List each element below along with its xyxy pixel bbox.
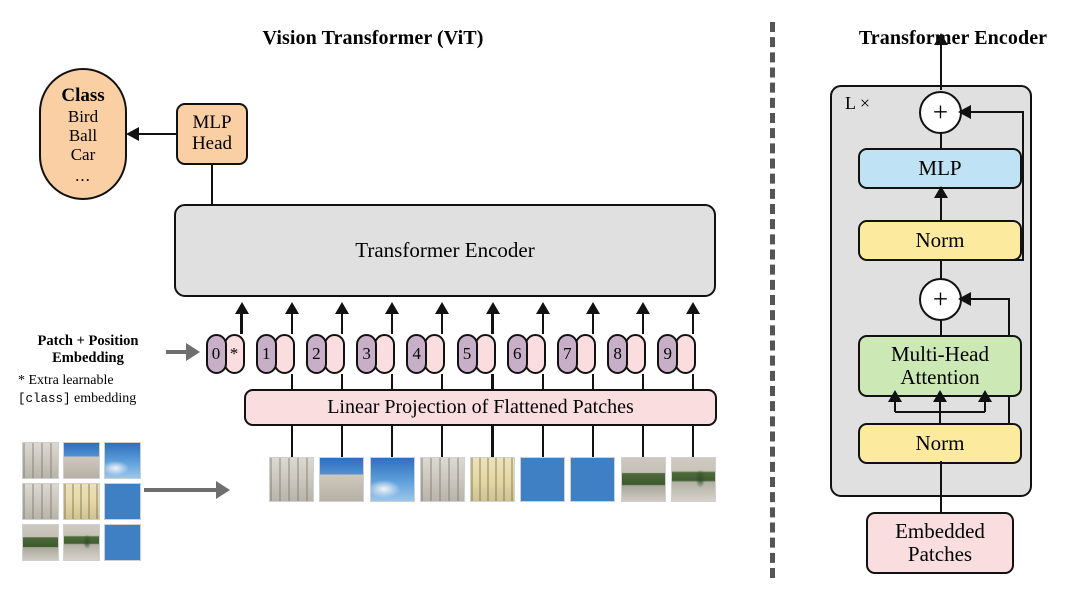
patch-embedding-2 <box>324 334 345 374</box>
class-token-star: * <box>224 334 245 374</box>
encoder-input-arrow-shaft <box>391 312 393 334</box>
mlp-block: MLP <box>858 148 1022 189</box>
position-embedding-5: 5 <box>457 334 478 374</box>
residual-top-horizontal <box>962 111 1024 113</box>
encoder-input-arrow-head <box>235 302 249 314</box>
flattened-patch-tile <box>570 457 615 502</box>
encoder-input-arrow-shaft <box>341 312 343 334</box>
qkv-center-stem <box>939 411 941 423</box>
patch-to-projection-line <box>542 425 544 457</box>
note-class-token: [class] <box>18 392 71 406</box>
embedding-caption-arrow-shaft <box>166 350 188 354</box>
patch-embedding-6 <box>525 334 546 374</box>
projection-to-token-line <box>642 374 644 390</box>
residual-bottom-arrow-head <box>958 292 971 306</box>
transformer-encoder-label: Transformer Encoder <box>355 239 534 262</box>
vit-architecture-figure: Vision Transformer (ViT) Class Bird Ball… <box>0 0 1080 593</box>
embedded-to-norm-line <box>940 461 942 514</box>
class-item-ellipsis: ... <box>75 166 91 185</box>
flattened-patch-tile <box>520 457 565 502</box>
encoder-output-arrow-head <box>934 33 948 45</box>
flattened-patch-tile <box>319 457 364 502</box>
normtop-to-mlp-arrow-head <box>934 186 948 198</box>
mlp-block-label: MLP <box>918 157 961 180</box>
embedded-patches-line1: Embedded <box>895 519 985 543</box>
qkv-arrow-head <box>933 390 947 402</box>
patch-embedding-5 <box>475 334 496 374</box>
flattened-patch-tile <box>470 457 515 502</box>
patch-embedding-8 <box>625 334 646 374</box>
encoder-input-arrow-shaft <box>592 312 594 334</box>
mlp-head-line2: Head <box>192 133 232 154</box>
embedding-caption-line1: Patch + Position <box>38 333 139 349</box>
position-embedding-8: 8 <box>607 334 628 374</box>
residual-add-bottom-symbol: + <box>933 286 948 313</box>
projection-to-token-line <box>592 374 594 390</box>
embedding-token: 1 <box>256 334 295 374</box>
patch-embedding-7 <box>575 334 596 374</box>
mlp-head-line1: MLP <box>192 112 231 133</box>
embedded-patches-block: Embedded Patches <box>866 512 1014 574</box>
note-line1: * Extra learnable <box>18 373 114 388</box>
panel-divider <box>770 22 775 578</box>
source-image-tile <box>22 442 59 479</box>
position-embedding-6: 6 <box>507 334 528 374</box>
norm-top-label: Norm <box>916 229 965 252</box>
class-item-bird: Bird <box>68 107 98 126</box>
flattened-patch-tile <box>420 457 465 502</box>
flattened-patch-tile <box>269 457 314 502</box>
qkv-arrow-head <box>978 390 992 402</box>
position-embedding-3: 3 <box>356 334 377 374</box>
position-embedding-2: 2 <box>306 334 327 374</box>
encoder-input-arrow-shaft <box>240 312 242 334</box>
residual-top-arrow-head <box>958 105 971 119</box>
patch-to-projection-line <box>391 425 393 457</box>
source-image-tile <box>22 483 59 520</box>
embedding-token: 2 <box>306 334 345 374</box>
patch-to-projection-line <box>642 425 644 457</box>
extra-learnable-note: * Extra learnable [class] embedding <box>18 372 188 409</box>
encoder-input-arrow-shaft <box>291 312 293 334</box>
embedding-token: 5 <box>457 334 496 374</box>
residual-add-top-symbol: + <box>933 99 948 126</box>
transformer-encoder-block: Transformer Encoder <box>174 204 716 297</box>
embedding-token: 6 <box>507 334 546 374</box>
embedding-token: 0* <box>206 334 245 374</box>
norm-bottom-block: Norm <box>858 423 1022 464</box>
mha-label-line1: Multi-Head <box>891 342 989 366</box>
residual-add-bottom: + <box>919 278 962 321</box>
source-image-tile <box>63 442 100 479</box>
flattened-patch-tile <box>370 457 415 502</box>
encoder-input-arrow-head <box>435 302 449 314</box>
class-item-car: Car <box>71 145 96 164</box>
encoder-repeat-label: L × <box>845 93 870 114</box>
flattened-patch-tile <box>671 457 716 502</box>
projection-to-token-line <box>441 374 443 390</box>
mlp-to-class-arrow-shaft <box>138 133 176 135</box>
embedding-caption-line2: Embedding <box>52 350 124 366</box>
patch-embedding-4 <box>424 334 445 374</box>
mlp-head-to-encoder-line <box>211 165 213 205</box>
norm-top-block: Norm <box>858 220 1022 261</box>
projection-to-token-line <box>542 374 544 390</box>
encoder-output-line <box>940 42 942 90</box>
source-image-tile <box>22 524 59 561</box>
patch-embedding-1 <box>274 334 295 374</box>
position-embedding-1: 1 <box>256 334 277 374</box>
embedding-token: 8 <box>607 334 646 374</box>
grid-to-strip-arrow-shaft <box>144 488 218 492</box>
mha-label-line2: Attention <box>900 365 979 389</box>
encoder-input-arrow-head <box>335 302 349 314</box>
encoder-input-arrow-head <box>536 302 550 314</box>
patch-to-projection-line <box>491 425 493 457</box>
norm-bottom-label: Norm <box>916 432 965 455</box>
projection-to-token-line <box>291 374 293 390</box>
embedded-patches-line2: Patches <box>908 542 972 566</box>
encoder-input-arrow-head <box>586 302 600 314</box>
patch-to-projection-line <box>441 425 443 457</box>
encoder-input-arrow-head <box>686 302 700 314</box>
source-image-tile <box>63 524 100 561</box>
patch-embedding-9 <box>675 334 696 374</box>
patch-embedding-3 <box>374 334 395 374</box>
source-image-patch-grid <box>22 442 145 565</box>
encoder-input-arrow-head <box>636 302 650 314</box>
patch-to-projection-line <box>341 425 343 457</box>
projection-to-token-line <box>692 374 694 390</box>
class-item-ball: Ball <box>69 126 97 145</box>
embedding-caption-arrow-head <box>186 343 200 361</box>
left-panel-title: Vision Transformer (ViT) <box>198 27 548 50</box>
mlp-head-block: MLP Head <box>176 103 248 165</box>
projection-to-token-line <box>341 374 343 390</box>
multi-head-attention-block: Multi-Head Attention <box>858 335 1022 397</box>
patch-to-projection-line <box>692 425 694 457</box>
patch-to-projection-line <box>291 425 293 457</box>
embedding-token: 4 <box>406 334 445 374</box>
encoder-input-arrow-shaft <box>441 312 443 334</box>
flattened-patch-tile <box>621 457 666 502</box>
source-image-tile <box>104 524 141 561</box>
embedding-token: 7 <box>557 334 596 374</box>
note-line2-tail: embedding <box>71 391 137 406</box>
right-panel-title: Transformer Encoder <box>826 27 1080 50</box>
patch-position-embedding-caption: Patch + Position Embedding <box>12 333 164 367</box>
linear-projection-label: Linear Projection of Flattened Patches <box>327 397 634 419</box>
embedding-token: 3 <box>356 334 395 374</box>
embedding-token: 9 <box>657 334 696 374</box>
encoder-input-arrow-head <box>385 302 399 314</box>
position-embedding-4: 4 <box>406 334 427 374</box>
position-embedding-0: 0 <box>206 334 227 374</box>
linear-projection-block: Linear Projection of Flattened Patches <box>244 389 717 426</box>
projection-to-token-line <box>391 374 393 390</box>
position-embedding-9: 9 <box>657 334 678 374</box>
position-embedding-7: 7 <box>557 334 578 374</box>
class-output-pill: Class Bird Ball Car ... <box>39 68 127 200</box>
encoder-input-arrow-shaft <box>491 312 493 334</box>
grid-to-strip-arrow-head <box>216 481 230 499</box>
source-image-tile <box>63 483 100 520</box>
patch-to-projection-line <box>592 425 594 457</box>
encoder-input-arrow-shaft <box>692 312 694 334</box>
mlp-to-class-arrow-head <box>126 127 139 141</box>
encoder-input-arrow-shaft <box>642 312 644 334</box>
residual-add-top: + <box>919 91 962 134</box>
source-image-tile <box>104 483 141 520</box>
class-pill-title: Class <box>61 85 104 106</box>
qkv-arrow-head <box>888 390 902 402</box>
source-image-tile <box>104 442 141 479</box>
encoder-input-arrow-head <box>486 302 500 314</box>
encoder-input-arrow-head <box>285 302 299 314</box>
projection-to-token-line <box>491 374 493 390</box>
encoder-input-arrow-shaft <box>542 312 544 334</box>
residual-top-vertical <box>1022 111 1024 261</box>
